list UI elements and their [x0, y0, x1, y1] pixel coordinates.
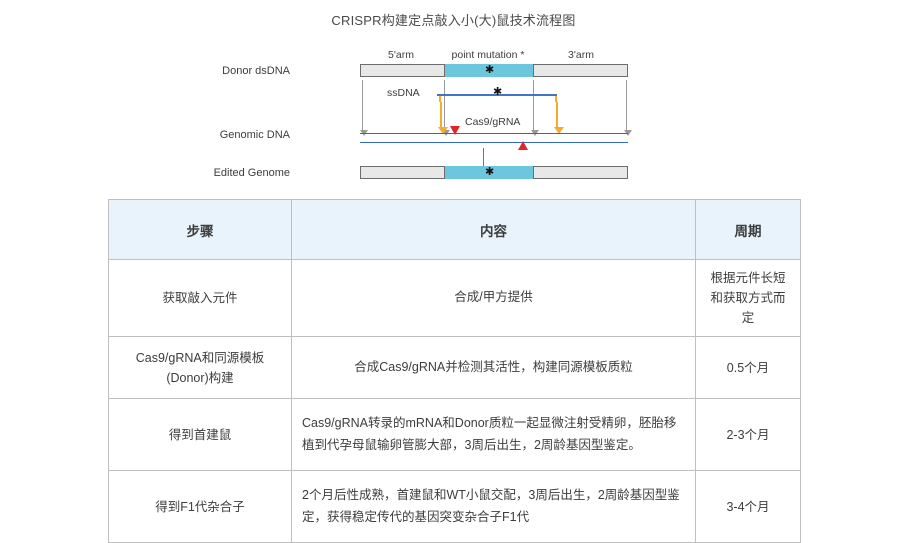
cell-content-4: 2个月后性成熟，首建鼠和WT小鼠交配，3周后出生，2周龄基因型鉴定，获得稳定传代…: [292, 471, 696, 543]
cell-content-3: Cas9/gRNA转录的mRNA和Donor质粒一起显微注射受精卵，胚胎移植到代…: [292, 399, 696, 471]
cell-step-1: 获取敲入元件: [109, 260, 292, 337]
column-header-content: 内容: [292, 200, 696, 260]
cell-content-2: 合成Cas9/gRNA并检测其活性，构建同源模板质粒: [292, 337, 696, 399]
genomic-dna-strand-top: [360, 133, 628, 134]
cut-site-marker-top: [450, 126, 460, 135]
edited-mutation-star-icon: ✱: [485, 168, 494, 177]
table-row: 得到首建鼠 Cas9/gRNA转录的mRNA和Donor质粒一起显微注射受精卵，…: [109, 399, 801, 471]
edited-genome-bar: ✱: [360, 166, 628, 179]
cell-content-1: 合成/甲方提供: [292, 260, 696, 337]
label-ssdna: ssDNA: [387, 87, 420, 99]
projection-line-mut-right: [533, 80, 534, 130]
table-header-row: 步骤 内容 周期: [109, 200, 801, 260]
donor-mutation-star-icon: ✱: [485, 66, 494, 75]
cell-period-1: 根据元件长短和获取方式而定: [696, 260, 801, 337]
diagram-row-label-genomic-dna: Genomic DNA: [180, 129, 290, 141]
label-cas9-grna: Cas9/gRNA: [465, 116, 520, 128]
table-row: 获取敲入元件 合成/甲方提供 根据元件长短和获取方式而定: [109, 260, 801, 337]
projection-line-mut-left: [444, 80, 445, 130]
ssdna-mutation-star-icon: ✱: [493, 88, 502, 97]
page-title: CRISPR构建定点敲入小(大)鼠技术流程图: [0, 10, 907, 29]
column-header-step: 步骤: [109, 200, 292, 260]
table-body: 获取敲入元件 合成/甲方提供 根据元件长短和获取方式而定 Cas9/gRNA和同…: [109, 260, 801, 543]
projection-line-right-outer: [626, 80, 627, 130]
genomic-dna-strand-bottom: [360, 142, 628, 143]
donor-dsdna-bar: ✱: [360, 64, 628, 77]
table-row: Cas9/gRNA和同源模板(Donor)构建 合成Cas9/gRNA并检测其活…: [109, 337, 801, 399]
cell-period-2: 0.5个月: [696, 337, 801, 399]
cell-step-2: Cas9/gRNA和同源模板(Donor)构建: [109, 337, 292, 399]
process-table: 步骤 内容 周期 获取敲入元件 合成/甲方提供 根据元件长短和获取方式而定 Ca…: [108, 199, 801, 543]
hdr-arrow-left: [440, 102, 442, 127]
diagram-row-label-edited-genome: Edited Genome: [180, 167, 290, 179]
table-row: 得到F1代杂合子 2个月后性成熟，首建鼠和WT小鼠交配，3周后出生，2周龄基因型…: [109, 471, 801, 543]
edited-genome-arrow: [483, 148, 484, 166]
cell-period-3: 2-3个月: [696, 399, 801, 471]
label-point-mutation: point mutation *: [433, 49, 543, 61]
projection-line-left-outer: [362, 80, 363, 130]
cell-period-4: 3-4个月: [696, 471, 801, 543]
diagram-row-label-donor-dsdna: Donor dsDNA: [180, 65, 290, 77]
hdr-arrow-right: [556, 102, 558, 127]
cut-site-marker-bottom: [518, 141, 528, 150]
cell-step-3: 得到首建鼠: [109, 399, 292, 471]
table-header: 步骤 内容 周期: [109, 200, 801, 260]
cell-step-4: 得到F1代杂合子: [109, 471, 292, 543]
label-3-prime-arm: 3'arm: [535, 49, 627, 61]
crispr-schematic-diagram: Donor dsDNA Genomic DNA Edited Genome 5'…: [0, 40, 907, 195]
label-5-prime-arm: 5'arm: [358, 49, 444, 61]
column-header-period: 周期: [696, 200, 801, 260]
